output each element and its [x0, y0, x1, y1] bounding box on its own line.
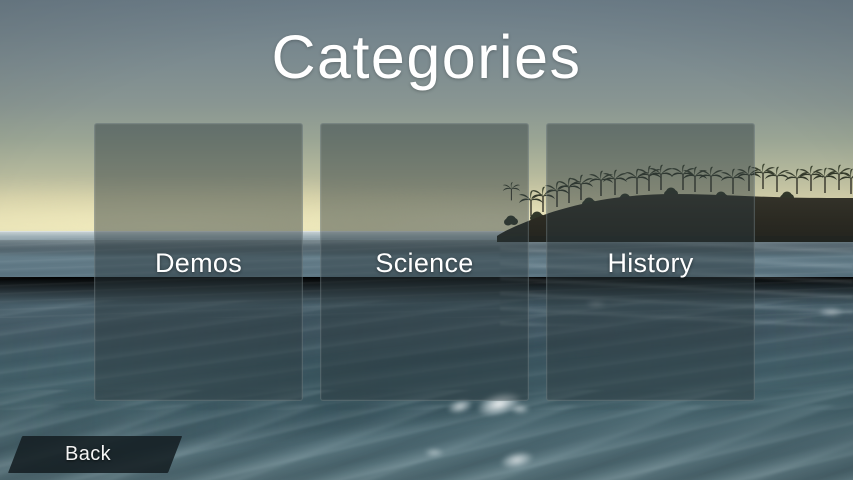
- category-card-science[interactable]: Science: [320, 123, 529, 401]
- page-title: Categories: [0, 27, 853, 88]
- category-card-history[interactable]: History: [546, 123, 755, 401]
- back-button[interactable]: Back: [8, 436, 168, 473]
- game-menu-screen: Categories Demos Science History Back: [0, 0, 853, 480]
- back-button-label: Back: [8, 436, 168, 473]
- category-card-demos[interactable]: Demos: [94, 123, 303, 401]
- category-card-label: History: [607, 248, 693, 279]
- category-card-label: Science: [375, 248, 473, 279]
- category-card-list: Demos Science History: [94, 123, 755, 401]
- category-card-label: Demos: [155, 248, 242, 279]
